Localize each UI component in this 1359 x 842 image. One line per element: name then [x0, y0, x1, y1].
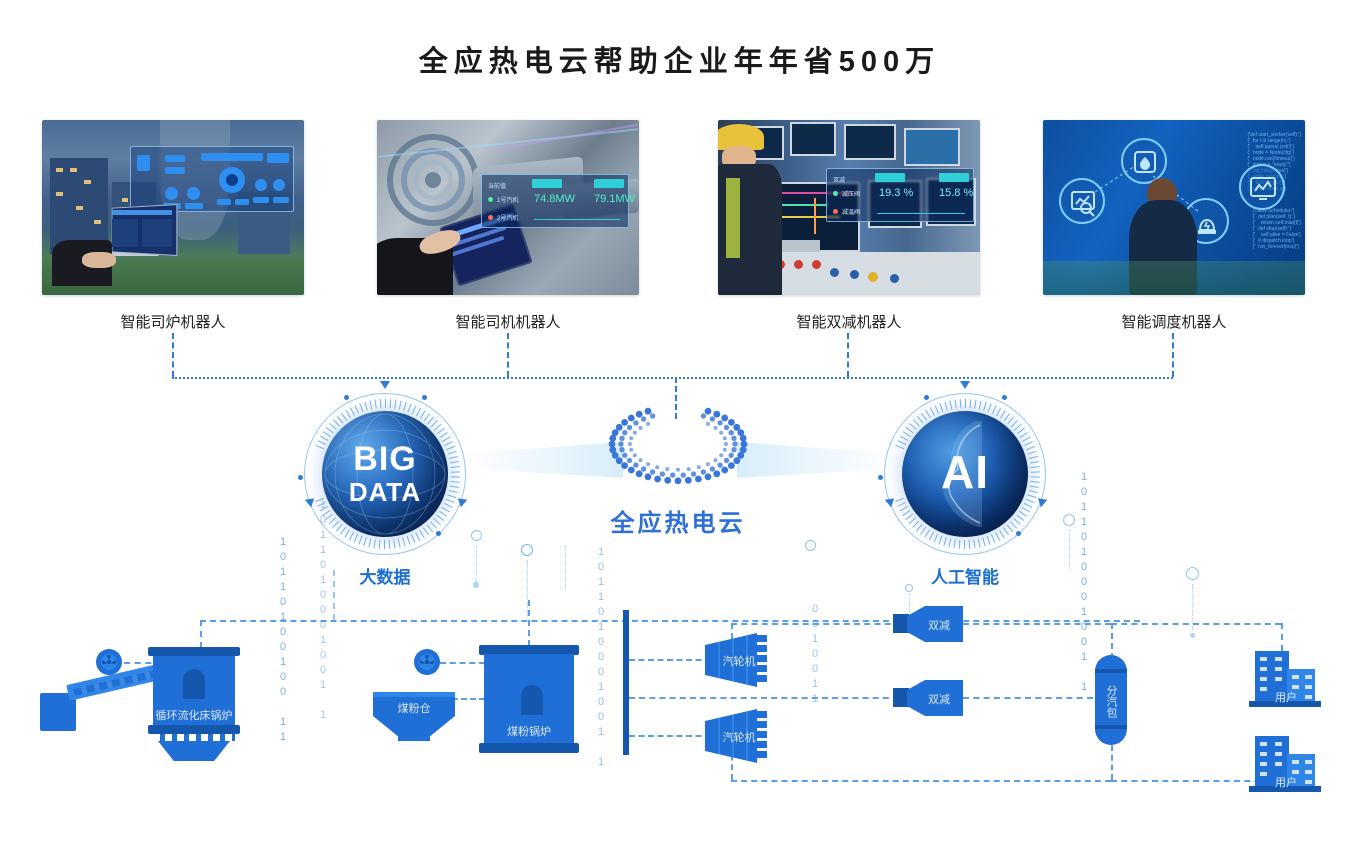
steam-header-drum[interactable]: 分汽包: [1095, 655, 1127, 745]
cfb-boiler[interactable]: 循环流化床锅炉: [40, 645, 250, 755]
fan2-link: [440, 662, 485, 664]
customer-1-label: 用户: [1261, 689, 1311, 705]
card-boiler-operator[interactable]: 智能司炉机器人: [42, 120, 304, 332]
card-caption: 智能调度机器人: [1043, 311, 1305, 332]
bigdata-line1: BIG: [296, 440, 474, 479]
bigdata-marker-dot-c: [298, 475, 303, 480]
ai-marker-top: [960, 381, 970, 389]
pulverized-boiler-label: 煤粉锅炉: [484, 723, 574, 739]
ai-marker-dot-d: [1016, 531, 1021, 536]
dr1-out: [963, 623, 1111, 625]
steam-main-header: [623, 610, 629, 755]
turbine-2-bottom-run: [731, 780, 1111, 782]
cloud-name: 全应热电云: [592, 503, 764, 538]
steam-header-label: 分汽包: [1095, 679, 1127, 723]
pulverized-fan-icon: [414, 649, 440, 675]
ai-marker-dot-a: [924, 395, 929, 400]
decor-dot-2: [1190, 633, 1195, 638]
dr2-out: [963, 697, 1093, 699]
dual-reduction-2[interactable]: 双减: [893, 678, 963, 718]
turbine-1-top-run: [731, 623, 901, 625]
ai-marker-dot-b: [1002, 395, 1007, 400]
decor-circle-1: [471, 530, 482, 541]
decor-circle-4: [1063, 514, 1075, 526]
customer-1[interactable]: 用户: [1249, 651, 1321, 709]
card2-connector: [507, 333, 509, 377]
card-caption: 智能司机机器人: [377, 311, 639, 332]
bigdata-marker-dot-a: [344, 395, 349, 400]
decor-circle-2: [521, 544, 533, 556]
decor-circle-6: [905, 584, 913, 592]
header-to-turbine-2: [629, 735, 711, 737]
header-to-turbine-1: [629, 659, 711, 661]
coal-bunker[interactable]: 煤粉仓: [373, 692, 455, 742]
card-caption: 智能司炉机器人: [42, 311, 304, 332]
card-dispatch[interactable]: {'def start_worker(self):'} {' for i in …: [1043, 120, 1305, 332]
customer-2[interactable]: 用户: [1249, 736, 1321, 794]
decor-dots-1: [476, 546, 477, 582]
cfb-top-run: [200, 620, 1140, 622]
bigdata-data-riser: [333, 570, 335, 620]
card-turbine-operator[interactable]: 当前值 1号汽机 74.8MW 79.1MW 2号汽机 智能司机机器人: [377, 120, 639, 332]
cloud-dots-icon: [592, 398, 764, 494]
ai-marker-dot-c: [878, 475, 883, 480]
cloud-logo[interactable]: 全应热电云: [592, 398, 764, 538]
cfb-fan-icon: [96, 649, 122, 675]
decor-dot-1: [473, 582, 479, 588]
steam-turbine-2[interactable]: 汽轮机: [705, 709, 777, 763]
infographic-root: 全应热电云帮助企业年年省500万: [0, 0, 1359, 842]
cfb-boiler-label: 循环流化床锅炉: [153, 707, 235, 723]
binary-right-inner: 0010011: [810, 602, 820, 707]
bunker-to-boiler: [452, 698, 485, 700]
decor-dots-4: [1069, 530, 1070, 570]
dual-reduction-1[interactable]: 双减: [893, 604, 963, 644]
binary-mid: 1011010001001 1: [596, 545, 606, 770]
header-to-cust-riser: [1111, 623, 1113, 659]
steam-turbine-1[interactable]: 汽轮机: [705, 633, 777, 687]
turbine-operator-photo: 当前值 1号汽机 74.8MW 79.1MW 2号汽机: [377, 120, 639, 295]
card1-connector: [172, 333, 174, 377]
decor-circle-5: [1186, 567, 1199, 580]
dual-reduction-1-label: 双减: [917, 617, 961, 633]
card-caption: 智能双减机器人: [718, 311, 980, 332]
pulverized-drop: [528, 600, 530, 646]
ai-orb[interactable]: AI 人工智能: [876, 385, 1054, 563]
binary-right-outer: 1011010001001 1: [1079, 470, 1089, 695]
card3-connector: [847, 333, 849, 377]
cust1-drop: [1281, 623, 1283, 651]
page-title: 全应热电云帮助企业年年省500万: [0, 38, 1359, 80]
card4-connector: [1172, 333, 1174, 377]
steam-turbine-1-label: 汽轮机: [717, 653, 761, 669]
ai-caption: 人工智能: [876, 563, 1054, 588]
card-control-room[interactable]: 双减 减压阀 19.3 % 15.8 % 减温阀 智能双减机器人: [718, 120, 980, 332]
binary-left-outer: 10110100100 11: [278, 535, 288, 745]
boiler-operator-photo: [42, 120, 304, 295]
bigdata-marker-dot-d: [436, 531, 441, 536]
decor-dots-3: [565, 545, 566, 589]
bigdata-marker-top: [380, 381, 390, 389]
dual-reduction-2-label: 双减: [917, 691, 961, 707]
binary-left-inner: 1011010001001 1: [318, 498, 328, 723]
connector-bus: [172, 377, 1173, 379]
customer-2-label: 用户: [1261, 774, 1311, 790]
header-mid-run: [629, 697, 899, 699]
ai-text: AI: [876, 445, 1054, 499]
decor-circle-3: [805, 540, 816, 551]
pulverized-boiler[interactable]: 煤粉锅炉: [484, 645, 574, 755]
control-room-photo: 双减 减压阀 19.3 % 15.8 % 减温阀: [718, 120, 980, 295]
coal-bunker-label: 煤粉仓: [373, 700, 455, 716]
steam-turbine-2-label: 汽轮机: [717, 729, 761, 745]
bigdata-marker-dot-b: [422, 395, 427, 400]
dispatch-photo: {'def start_worker(self):'} {' for i in …: [1043, 120, 1305, 295]
header-top-to-cust: [1111, 623, 1281, 625]
